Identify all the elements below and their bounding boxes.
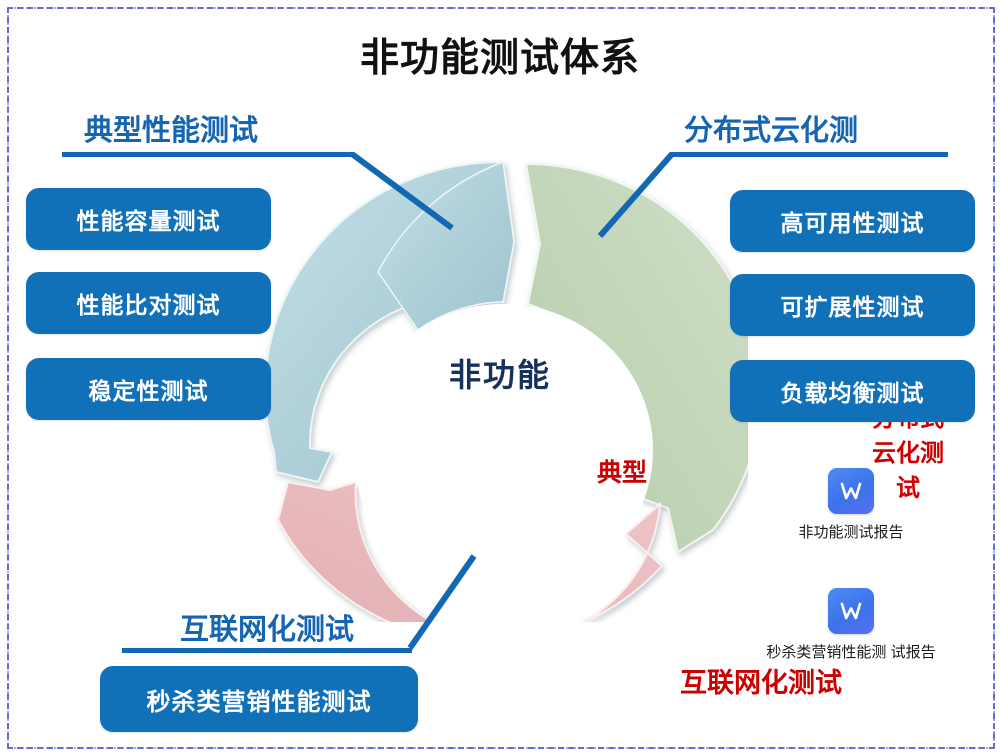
item-button-flash-sale-marketing[interactable]: 秒杀类营销性能测试: [100, 666, 418, 732]
section-rule-right: [670, 152, 948, 157]
segment-label-typical: 典型: [582, 455, 662, 491]
diagram-canvas: 非功能测试体系: [0, 0, 1000, 754]
section-rule-bottom: [122, 648, 412, 653]
document-label: 非功能测试报告: [756, 523, 946, 543]
item-button-performance-comparison[interactable]: 性能比对测试: [26, 272, 271, 334]
document-item-nonfunctional-report[interactable]: 非功能测试报告: [756, 468, 946, 543]
word-doc-icon[interactable]: [828, 468, 874, 514]
section-label-right: 分布式云化测: [684, 107, 858, 149]
item-button-performance-capacity[interactable]: 性能容量测试: [26, 188, 271, 250]
item-button-scalability[interactable]: 可扩展性测试: [730, 274, 975, 336]
item-button-high-availability[interactable]: 高可用性测试: [730, 190, 975, 252]
item-button-stability[interactable]: 稳定性测试: [26, 358, 271, 420]
segment-label-internet: 互联网化测试: [656, 664, 866, 703]
section-label-left: 典型性能测试: [84, 107, 258, 149]
page-title: 非功能测试体系: [0, 38, 1000, 81]
section-rule-left: [62, 152, 354, 157]
item-button-load-balancing[interactable]: 负载均衡测试: [730, 360, 975, 422]
document-item-flash-sale-report[interactable]: 秒杀类营销性能测 试报告: [756, 588, 946, 663]
donut-hole: [353, 304, 653, 596]
section-label-bottom: 互联网化测试: [180, 606, 354, 648]
donut-center-label: 非功能: [400, 350, 600, 396]
word-doc-icon[interactable]: [828, 588, 874, 634]
document-label: 秒杀类营销性能测 试报告: [756, 643, 946, 663]
